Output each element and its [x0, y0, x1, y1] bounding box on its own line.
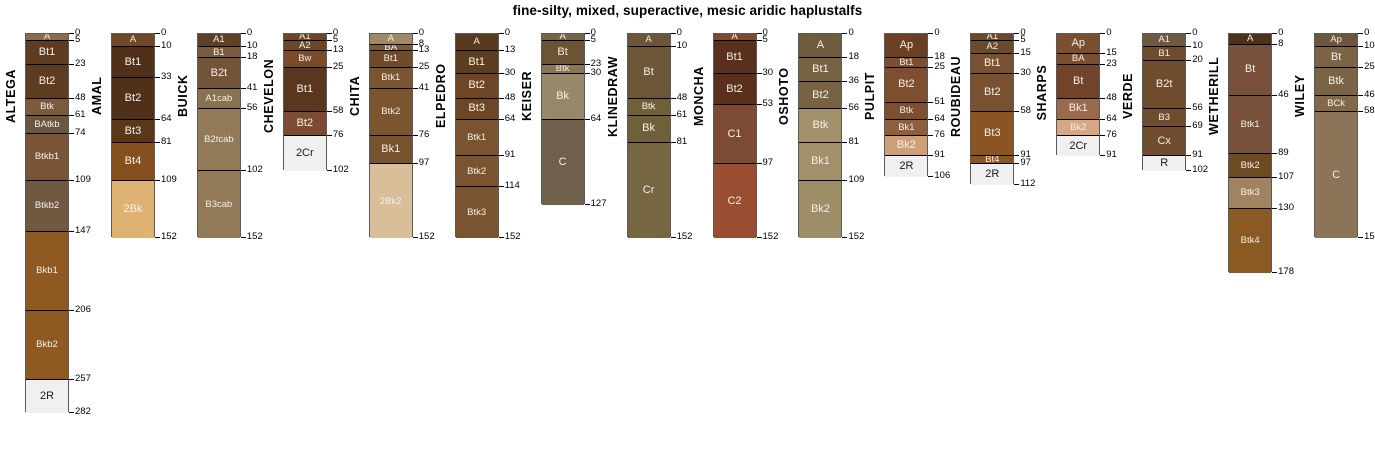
axis-tick — [1358, 111, 1363, 112]
soil-horizon: A — [799, 34, 841, 58]
soil-horizon: C1 — [714, 105, 756, 164]
horizon-label: Btk — [1328, 76, 1344, 87]
soil-horizon: Bt — [1057, 65, 1099, 99]
axis-tick-label: 56 — [247, 103, 258, 113]
axis-tick-label: 152 — [848, 232, 864, 242]
horizon-label: Bt2 — [726, 84, 743, 95]
axis-tick-label: 64 — [505, 114, 516, 124]
horizon-label: Bt2 — [125, 93, 142, 104]
axis-tick-label: 0 — [161, 28, 166, 38]
horizon-label: 2Cr — [296, 148, 314, 159]
horizon-label: A — [559, 34, 565, 41]
profile-column: ApBtBtkBCkC — [1314, 33, 1358, 237]
soil-horizon: C — [542, 120, 584, 205]
axis-tick — [69, 180, 74, 181]
axis-tick — [499, 50, 504, 51]
horizon-label: 2Bk2 — [380, 197, 402, 207]
profile-column: ABtBtkBkCr — [627, 33, 671, 237]
horizon-label: A — [44, 34, 50, 41]
axis-tick — [585, 73, 590, 74]
soil-horizon: 2R — [885, 156, 927, 176]
horizon-label: Btk — [900, 106, 914, 116]
profile-name-label: WILEY — [1293, 31, 1307, 161]
horizon-label: Btk3 — [467, 208, 486, 218]
horizon-label: BA — [384, 45, 397, 52]
axis-tick — [1014, 155, 1019, 156]
axis-tick-label: 30 — [763, 68, 774, 78]
soil-horizon: Bt2 — [284, 112, 326, 136]
horizon-label: Bt3 — [984, 128, 1001, 139]
profile-name-label: MONCHA — [692, 31, 706, 161]
horizon-label: A2 — [299, 41, 311, 51]
axis-tick-label: 53 — [763, 99, 774, 109]
profile-name-label: KLINEDRAW — [606, 31, 620, 161]
soil-horizon: A — [628, 34, 670, 47]
axis-tick-label: 112 — [1020, 179, 1035, 189]
profile-name-label: AMAL — [90, 31, 104, 161]
axis-tick-label: 282 — [75, 407, 91, 417]
axis-tick — [842, 33, 847, 34]
soil-horizon: A1cab — [198, 89, 240, 109]
axis-tick — [69, 412, 74, 413]
axis-tick-label: 64 — [1106, 114, 1117, 124]
axis-tick-label: 18 — [247, 52, 258, 62]
soil-horizon: B2t — [1143, 61, 1185, 109]
axis-tick — [1186, 155, 1191, 156]
axis-tick — [499, 155, 504, 156]
soil-horizon: Bk1 — [1057, 99, 1099, 121]
axis-tick-label: 36 — [848, 76, 859, 86]
soil-horizon: BCk — [1315, 96, 1357, 112]
soil-horizon: Btkb2 — [26, 181, 68, 232]
soil-horizon: Bt2 — [456, 74, 498, 98]
soil-horizon: A1 — [1143, 34, 1185, 47]
horizon-label: Bt1 — [726, 52, 743, 63]
soil-horizon: Bt2 — [112, 78, 154, 120]
horizon-label: Btk1 — [1241, 120, 1260, 130]
soil-horizon: Bk2 — [799, 181, 841, 239]
axis-tick-label: 64 — [934, 114, 945, 124]
soil-horizon: B2t — [198, 58, 240, 89]
axis-tick — [241, 108, 246, 109]
axis-tick-label: 91 — [1106, 150, 1117, 160]
profile-name-label: BUICK — [176, 31, 190, 161]
axis-tick-label: 18 — [848, 52, 859, 62]
axis-tick-label: 114 — [505, 181, 520, 191]
profile-name-label: PULPIT — [863, 31, 877, 161]
axis-tick-label: 0 — [419, 28, 424, 38]
axis-tick-label: 152 — [247, 232, 263, 242]
horizon-label: Btk2 — [1241, 161, 1260, 171]
horizon-label: Bt1 — [297, 84, 314, 95]
soil-horizon: Bt — [1229, 45, 1271, 96]
soil-horizon: A — [26, 34, 68, 41]
soil-horizon: R — [1143, 156, 1185, 171]
horizon-label: Bkb1 — [36, 266, 58, 276]
axis-tick — [413, 88, 418, 89]
axis-tick — [757, 237, 762, 238]
soil-horizon: Btk — [628, 99, 670, 116]
horizon-label: Bw — [298, 54, 311, 64]
axis-tick — [499, 119, 504, 120]
profile-column: A1B1B2tA1cabB2tcabB3cab — [197, 33, 241, 237]
soil-horizon: Bk1 — [885, 120, 927, 136]
axis-tick-label: 5 — [333, 35, 338, 45]
horizon-label: Bt — [1331, 52, 1341, 63]
axis-tick — [69, 40, 74, 41]
axis-tick — [842, 237, 847, 238]
axis-tick — [1014, 184, 1019, 185]
axis-tick — [155, 119, 160, 120]
soil-horizon: Btkb1 — [26, 134, 68, 181]
axis-tick-label: 97 — [419, 158, 430, 168]
horizon-label: Bt — [557, 47, 567, 58]
soil-horizon: Bk — [628, 116, 670, 143]
axis-tick — [155, 237, 160, 238]
profile-name-label: KEISER — [520, 31, 534, 161]
horizon-label: C — [1332, 170, 1340, 181]
soil-horizon: A2 — [971, 41, 1013, 54]
profile-column: ABtBtkBkC — [541, 33, 585, 204]
soil-horizon: Btk4 — [1229, 209, 1271, 274]
axis-tick — [1014, 73, 1019, 74]
profile-name-label: CHEVELON — [262, 31, 276, 161]
axis-tick-label: 76 — [419, 130, 430, 140]
axis-tick — [69, 231, 74, 232]
axis-tick — [842, 142, 847, 143]
axis-tick — [499, 73, 504, 74]
axis-tick-label: 20 — [1192, 55, 1203, 65]
axis-tick-label: 91 — [1192, 150, 1203, 160]
axis-tick — [327, 111, 332, 112]
horizon-label: Bt3 — [468, 103, 485, 114]
horizon-label: A — [645, 35, 651, 45]
horizon-label: A1 — [299, 34, 311, 41]
axis-tick-label: 25 — [333, 62, 344, 72]
axis-tick-label: 48 — [75, 93, 86, 103]
axis-tick-label: 10 — [1192, 41, 1203, 51]
horizon-label: A2 — [987, 42, 999, 52]
horizon-label: Bt1 — [812, 64, 829, 75]
horizon-label: A1 — [1158, 35, 1170, 45]
axis-tick-label: 109 — [848, 175, 864, 185]
horizon-label: Bt1 — [984, 58, 1001, 69]
axis-tick-label: 147 — [75, 226, 91, 236]
horizon-label: Cx — [1157, 136, 1170, 147]
soil-horizon: A — [714, 34, 756, 41]
axis-tick-label: 102 — [1192, 165, 1208, 175]
axis-tick-label: 61 — [677, 110, 688, 120]
profile-column: ABt1Bt2C1C2 — [713, 33, 757, 237]
axis-tick — [1272, 153, 1277, 154]
horizon-label: 2R — [40, 391, 54, 402]
soil-horizon: Btk2 — [370, 89, 412, 136]
axis-tick-label: 10 — [247, 41, 258, 51]
axis-tick-label: 41 — [419, 83, 430, 93]
horizon-label: Btkb2 — [35, 201, 59, 211]
axis-tick — [1014, 111, 1019, 112]
profile-name-label: CHITA — [348, 31, 362, 161]
axis-tick-label: 152 — [763, 232, 779, 242]
axis-tick-label: 64 — [161, 114, 172, 124]
horizon-label: A — [817, 40, 824, 51]
horizon-label: A — [474, 37, 480, 47]
axis-tick — [1186, 60, 1191, 61]
horizon-label: Bt1 — [39, 47, 56, 58]
axis-tick — [928, 155, 933, 156]
horizon-label: B3 — [1158, 113, 1170, 123]
horizon-label: Btk — [642, 102, 656, 112]
axis-tick-label: 48 — [677, 93, 688, 103]
horizon-label: Bkb2 — [36, 340, 58, 350]
axis-tick — [757, 73, 762, 74]
horizon-label: 2Cr — [1069, 141, 1087, 152]
axis-tick-label: 25 — [1364, 62, 1375, 72]
soil-horizon: Bw — [284, 51, 326, 67]
axis-tick — [928, 33, 933, 34]
axis-tick — [69, 115, 74, 116]
axis-tick-label: 206 — [75, 305, 91, 315]
soil-horizon: 2R — [26, 380, 68, 414]
axis-tick-label: 48 — [505, 93, 516, 103]
axis-tick-label: 48 — [1106, 93, 1117, 103]
soil-horizon: Ap — [1315, 34, 1357, 47]
soil-horizon: Btk — [26, 99, 68, 116]
horizon-label: A — [731, 34, 737, 41]
axis-tick — [499, 186, 504, 187]
axis-tick-label: 41 — [247, 83, 258, 93]
horizon-label: Ap — [1072, 38, 1085, 49]
axis-tick — [413, 44, 418, 45]
axis-tick — [928, 176, 933, 177]
axis-tick — [928, 119, 933, 120]
axis-tick — [1100, 119, 1105, 120]
axis-tick-label: 0 — [505, 28, 510, 38]
axis-tick-label: 257 — [75, 374, 91, 384]
axis-tick — [1186, 126, 1191, 127]
axis-tick-label: 5 — [763, 35, 768, 45]
axis-tick — [413, 237, 418, 238]
axis-tick — [585, 204, 590, 205]
soil-horizon: Bt1 — [456, 51, 498, 74]
axis-tick — [842, 108, 847, 109]
soil-horizon: Btk — [885, 103, 927, 120]
axis-tick-label: 13 — [505, 45, 516, 55]
horizon-label: Bt2 — [468, 80, 485, 91]
axis-tick — [1014, 53, 1019, 54]
horizon-label: Btk2 — [467, 167, 486, 177]
horizon-label: A — [130, 35, 136, 45]
axis-tick-label: 152 — [161, 232, 177, 242]
horizon-label: Bt2 — [984, 87, 1001, 98]
axis-tick-label: 30 — [505, 68, 516, 78]
horizon-label: Btk — [556, 65, 570, 74]
horizon-label: Bk2 — [811, 204, 830, 215]
horizon-label: B2t — [211, 68, 228, 79]
axis-tick — [69, 33, 74, 34]
axis-tick-label: 76 — [333, 130, 344, 140]
soil-horizon: Bt2 — [885, 68, 927, 103]
horizon-label: Ap — [900, 40, 913, 51]
axis-tick-label: 0 — [934, 28, 939, 38]
horizon-label: Bk1 — [811, 156, 830, 167]
axis-tick-label: 5 — [591, 35, 596, 45]
soil-horizon: 2Bk — [112, 181, 154, 239]
axis-tick-label: 152 — [1364, 232, 1375, 242]
soil-horizon: B1 — [198, 47, 240, 58]
axis-tick — [671, 142, 676, 143]
horizon-label: Bt2 — [812, 90, 829, 101]
axis-tick-label: 130 — [1278, 203, 1294, 213]
soil-horizon: Bt4 — [112, 143, 154, 181]
soil-horizon: Btk — [542, 65, 584, 74]
soil-horizon: B3 — [1143, 109, 1185, 126]
horizon-label: R — [1160, 158, 1168, 169]
axis-tick-label: 46 — [1278, 90, 1289, 100]
axis-tick — [757, 33, 762, 34]
axis-tick-label: 76 — [934, 130, 945, 140]
axis-tick-label: 127 — [591, 199, 607, 209]
horizon-label: Bk1 — [1069, 103, 1088, 114]
horizon-label: Btk — [40, 102, 54, 112]
axis-tick-label: 58 — [1364, 106, 1375, 116]
soil-horizon: A — [542, 34, 584, 41]
axis-tick-label: 0 — [1106, 28, 1111, 38]
profile-name-label: OSHOTO — [777, 31, 791, 161]
horizon-label: BCk — [1327, 99, 1345, 109]
axis-tick — [757, 104, 762, 105]
axis-tick-label: 91 — [505, 150, 516, 160]
soil-horizon: A1 — [198, 34, 240, 47]
axis-tick — [1358, 67, 1363, 68]
axis-tick-label: 5 — [1020, 35, 1025, 45]
horizon-label: Btk3 — [1241, 188, 1260, 198]
profile-name-label: SHARPS — [1035, 31, 1049, 153]
profile-column: ABt1Bt2Bt3Btk1Btk2Btk3 — [455, 33, 499, 237]
soil-horizon: Bt2 — [714, 74, 756, 105]
axis-tick-label: 74 — [75, 128, 86, 138]
axis-tick — [585, 40, 590, 41]
axis-tick — [413, 33, 418, 34]
axis-tick — [928, 135, 933, 136]
horizon-label: A1 — [987, 34, 999, 41]
axis-tick-label: 152 — [677, 232, 693, 242]
soil-horizon: Ap — [1057, 34, 1099, 54]
axis-tick-label: 15 — [1020, 48, 1031, 58]
axis-tick-label: 152 — [505, 232, 521, 242]
horizon-label: Cr — [643, 185, 655, 196]
horizon-label: Bk1 — [898, 123, 914, 133]
soil-horizon: BA — [370, 45, 412, 52]
soil-horizon: Btk3 — [456, 187, 498, 238]
axis-tick — [1272, 44, 1277, 45]
soil-horizon: Btk1 — [1229, 96, 1271, 154]
horizon-label: Bt — [643, 67, 653, 78]
soil-horizon: Btk2 — [456, 156, 498, 187]
horizon-label: A1cab — [205, 94, 232, 104]
axis-tick — [413, 163, 418, 164]
soil-horizon: 2Cr — [284, 136, 326, 171]
axis-tick — [842, 81, 847, 82]
soil-horizon: Bt4 — [971, 156, 1013, 164]
axis-tick — [671, 115, 676, 116]
soil-horizon: Bt — [628, 47, 670, 98]
axis-tick — [928, 102, 933, 103]
horizon-label: Bk2 — [1070, 123, 1086, 133]
axis-tick — [241, 170, 246, 171]
horizon-label: Btk4 — [1241, 236, 1260, 246]
axis-tick — [69, 133, 74, 134]
horizon-label: Bt2 — [39, 76, 56, 87]
soil-horizon: Bk2 — [1057, 120, 1099, 136]
axis-tick — [155, 142, 160, 143]
profile-column: ABt1Bt2Bt3Bt42Bk — [111, 33, 155, 237]
horizon-label: Bt2 — [297, 118, 314, 129]
axis-tick — [1100, 33, 1105, 34]
horizon-label: A — [1247, 34, 1253, 44]
axis-tick-label: 25 — [419, 62, 430, 72]
axis-tick-label: 61 — [75, 110, 86, 120]
horizon-label: B1 — [213, 48, 225, 58]
axis-tick-label: 23 — [75, 59, 86, 69]
axis-tick-label: 5 — [75, 35, 80, 45]
soil-horizon: Bt1 — [112, 47, 154, 78]
axis-tick — [842, 57, 847, 58]
profile-column: ApBt1Bt2BtkBk1Bk22R — [884, 33, 928, 176]
profile-column: ApBABtBk1Bk22Cr — [1056, 33, 1100, 155]
horizon-label: Bk2 — [897, 140, 916, 151]
axis-tick-label: 15 — [1106, 48, 1117, 58]
axis-tick-label: 152 — [419, 232, 435, 242]
soil-horizon: A — [370, 34, 412, 45]
axis-tick — [928, 57, 933, 58]
soil-horizon: Btk3 — [1229, 178, 1271, 209]
horizon-label: C1 — [727, 129, 741, 140]
soil-horizon: Bt — [542, 41, 584, 65]
axis-tick — [671, 46, 676, 47]
axis-tick-label: 76 — [1106, 130, 1117, 140]
horizon-label: Bt3 — [125, 126, 142, 137]
horizon-label: A — [388, 34, 394, 44]
horizon-label: Bt — [1073, 76, 1083, 87]
axis-tick — [1100, 64, 1105, 65]
axis-tick — [413, 50, 418, 51]
profile-name-label: ELPEDRO — [434, 31, 448, 161]
axis-tick — [1272, 208, 1277, 209]
axis-tick-label: 10 — [161, 41, 172, 51]
axis-tick — [1014, 33, 1019, 34]
profile-name-label: ROUBIDEAU — [949, 31, 963, 161]
soil-horizon: C2 — [714, 164, 756, 238]
soil-horizon: C — [1315, 112, 1357, 238]
soil-horizon: Bt3 — [971, 112, 1013, 156]
soil-horizon: Bk1 — [799, 143, 841, 181]
axis-tick-label: 58 — [1020, 106, 1031, 116]
horizon-label: Bt — [1245, 64, 1255, 75]
horizon-label: A1 — [213, 35, 225, 45]
axis-tick — [585, 64, 590, 65]
horizon-label: B2tcab — [204, 135, 234, 145]
axis-tick-label: 58 — [333, 106, 344, 116]
axis-tick — [1358, 237, 1363, 238]
axis-tick — [327, 50, 332, 51]
axis-tick — [155, 77, 160, 78]
axis-tick-label: 0 — [247, 28, 252, 38]
horizon-label: Btkb1 — [35, 152, 59, 162]
axis-tick-label: 109 — [161, 175, 177, 185]
axis-tick — [155, 46, 160, 47]
soil-horizon: Bkb1 — [26, 232, 68, 311]
